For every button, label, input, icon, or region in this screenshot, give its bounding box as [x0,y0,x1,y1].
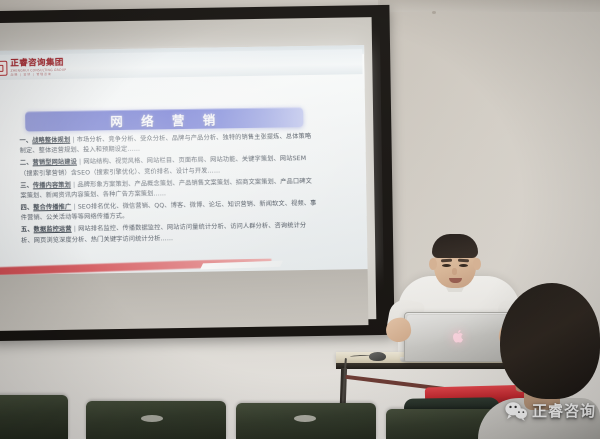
chair [0,395,68,439]
section-divider: | [79,159,81,166]
slide-section: 五、数据监控运营 | 网站排名监控、传播数据监控、网站访问量统计分析、访问人群分… [21,221,317,246]
presenter-nose [452,268,457,275]
slide-section: 一、战略整体规划 | 市场分析、竞争分析、受众分析、品牌与产品分析、独特的销售主… [19,132,315,157]
slide-body: 一、战略整体规划 | 市场分析、竞争分析、受众分析、品牌与产品分析、独特的销售主… [19,132,317,248]
chair [236,403,376,439]
wall-mark [432,11,436,14]
section-number: 四、 [21,204,34,211]
slide-section: 四、整合传播推广 | SEO排名优化、微信营销、QQ、博客、微博、论坛、知识营销… [21,199,317,224]
section-number: 三、 [20,182,33,189]
section-heading: 营销型网站建设 [33,159,77,167]
chair-label [294,415,316,422]
company-logo-text: 正睿咨询集团 ZHENGRUI CONSULTING GROUP 战略 | 营销… [10,59,66,77]
chair [86,401,226,439]
watermark-text: 正睿咨询 [532,400,596,421]
section-number: 二、 [20,160,33,167]
computer-mouse-icon[interactable] [369,352,386,361]
presenter-ear-left [429,258,437,270]
red-seal-icon [0,61,8,76]
wechat-icon [505,401,527,421]
screen-lower-area [0,269,369,331]
apple-logo-icon [452,329,465,344]
presenter-ear-right [473,258,481,270]
section-divider: | [73,181,75,188]
projected-slide-area: 正睿咨询集团 ZHENGRUI CONSULTING GROUP 战略 | 营销… [0,7,384,331]
section-heading: 数据监控运营 [34,226,72,234]
ceiling-edge [380,0,600,12]
chair-label [141,415,163,422]
section-number: 五、 [21,227,34,234]
section-divider: | [72,137,74,144]
section-divider: | [73,204,75,211]
section-divider: | [74,226,76,233]
watermark: 正睿咨询 [505,400,596,421]
section-heading: 战略整体规划 [32,137,70,145]
section-number: 一、 [19,137,32,144]
section-heading: 传播内容策划 [33,181,71,189]
company-logo: 正睿咨询集团 ZHENGRUI CONSULTING GROUP 战略 | 营销… [0,59,66,77]
audience-head [500,283,600,399]
slide-title: 网 络 营 销 [110,109,222,130]
presenter-eye-right [459,264,468,267]
seminar-photograph: 正睿咨询集团 ZHENGRUI CONSULTING GROUP 战略 | 营销… [0,0,600,439]
section-heading: 整合传播推广 [33,204,71,212]
presenter-hair [432,234,478,258]
slide-section: 三、传播内容策划 | 品牌形象方案策划、产品概念策划、产品销售文案策划、招商文案… [20,177,316,202]
company-name-cn: 正睿咨询集团 [10,59,66,68]
presenter-eye-left [442,264,451,267]
slide-section: 二、营销型网站建设 | 网站结构、视觉风格、网站栏目、页面布局、网站功能、关键字… [20,154,316,179]
